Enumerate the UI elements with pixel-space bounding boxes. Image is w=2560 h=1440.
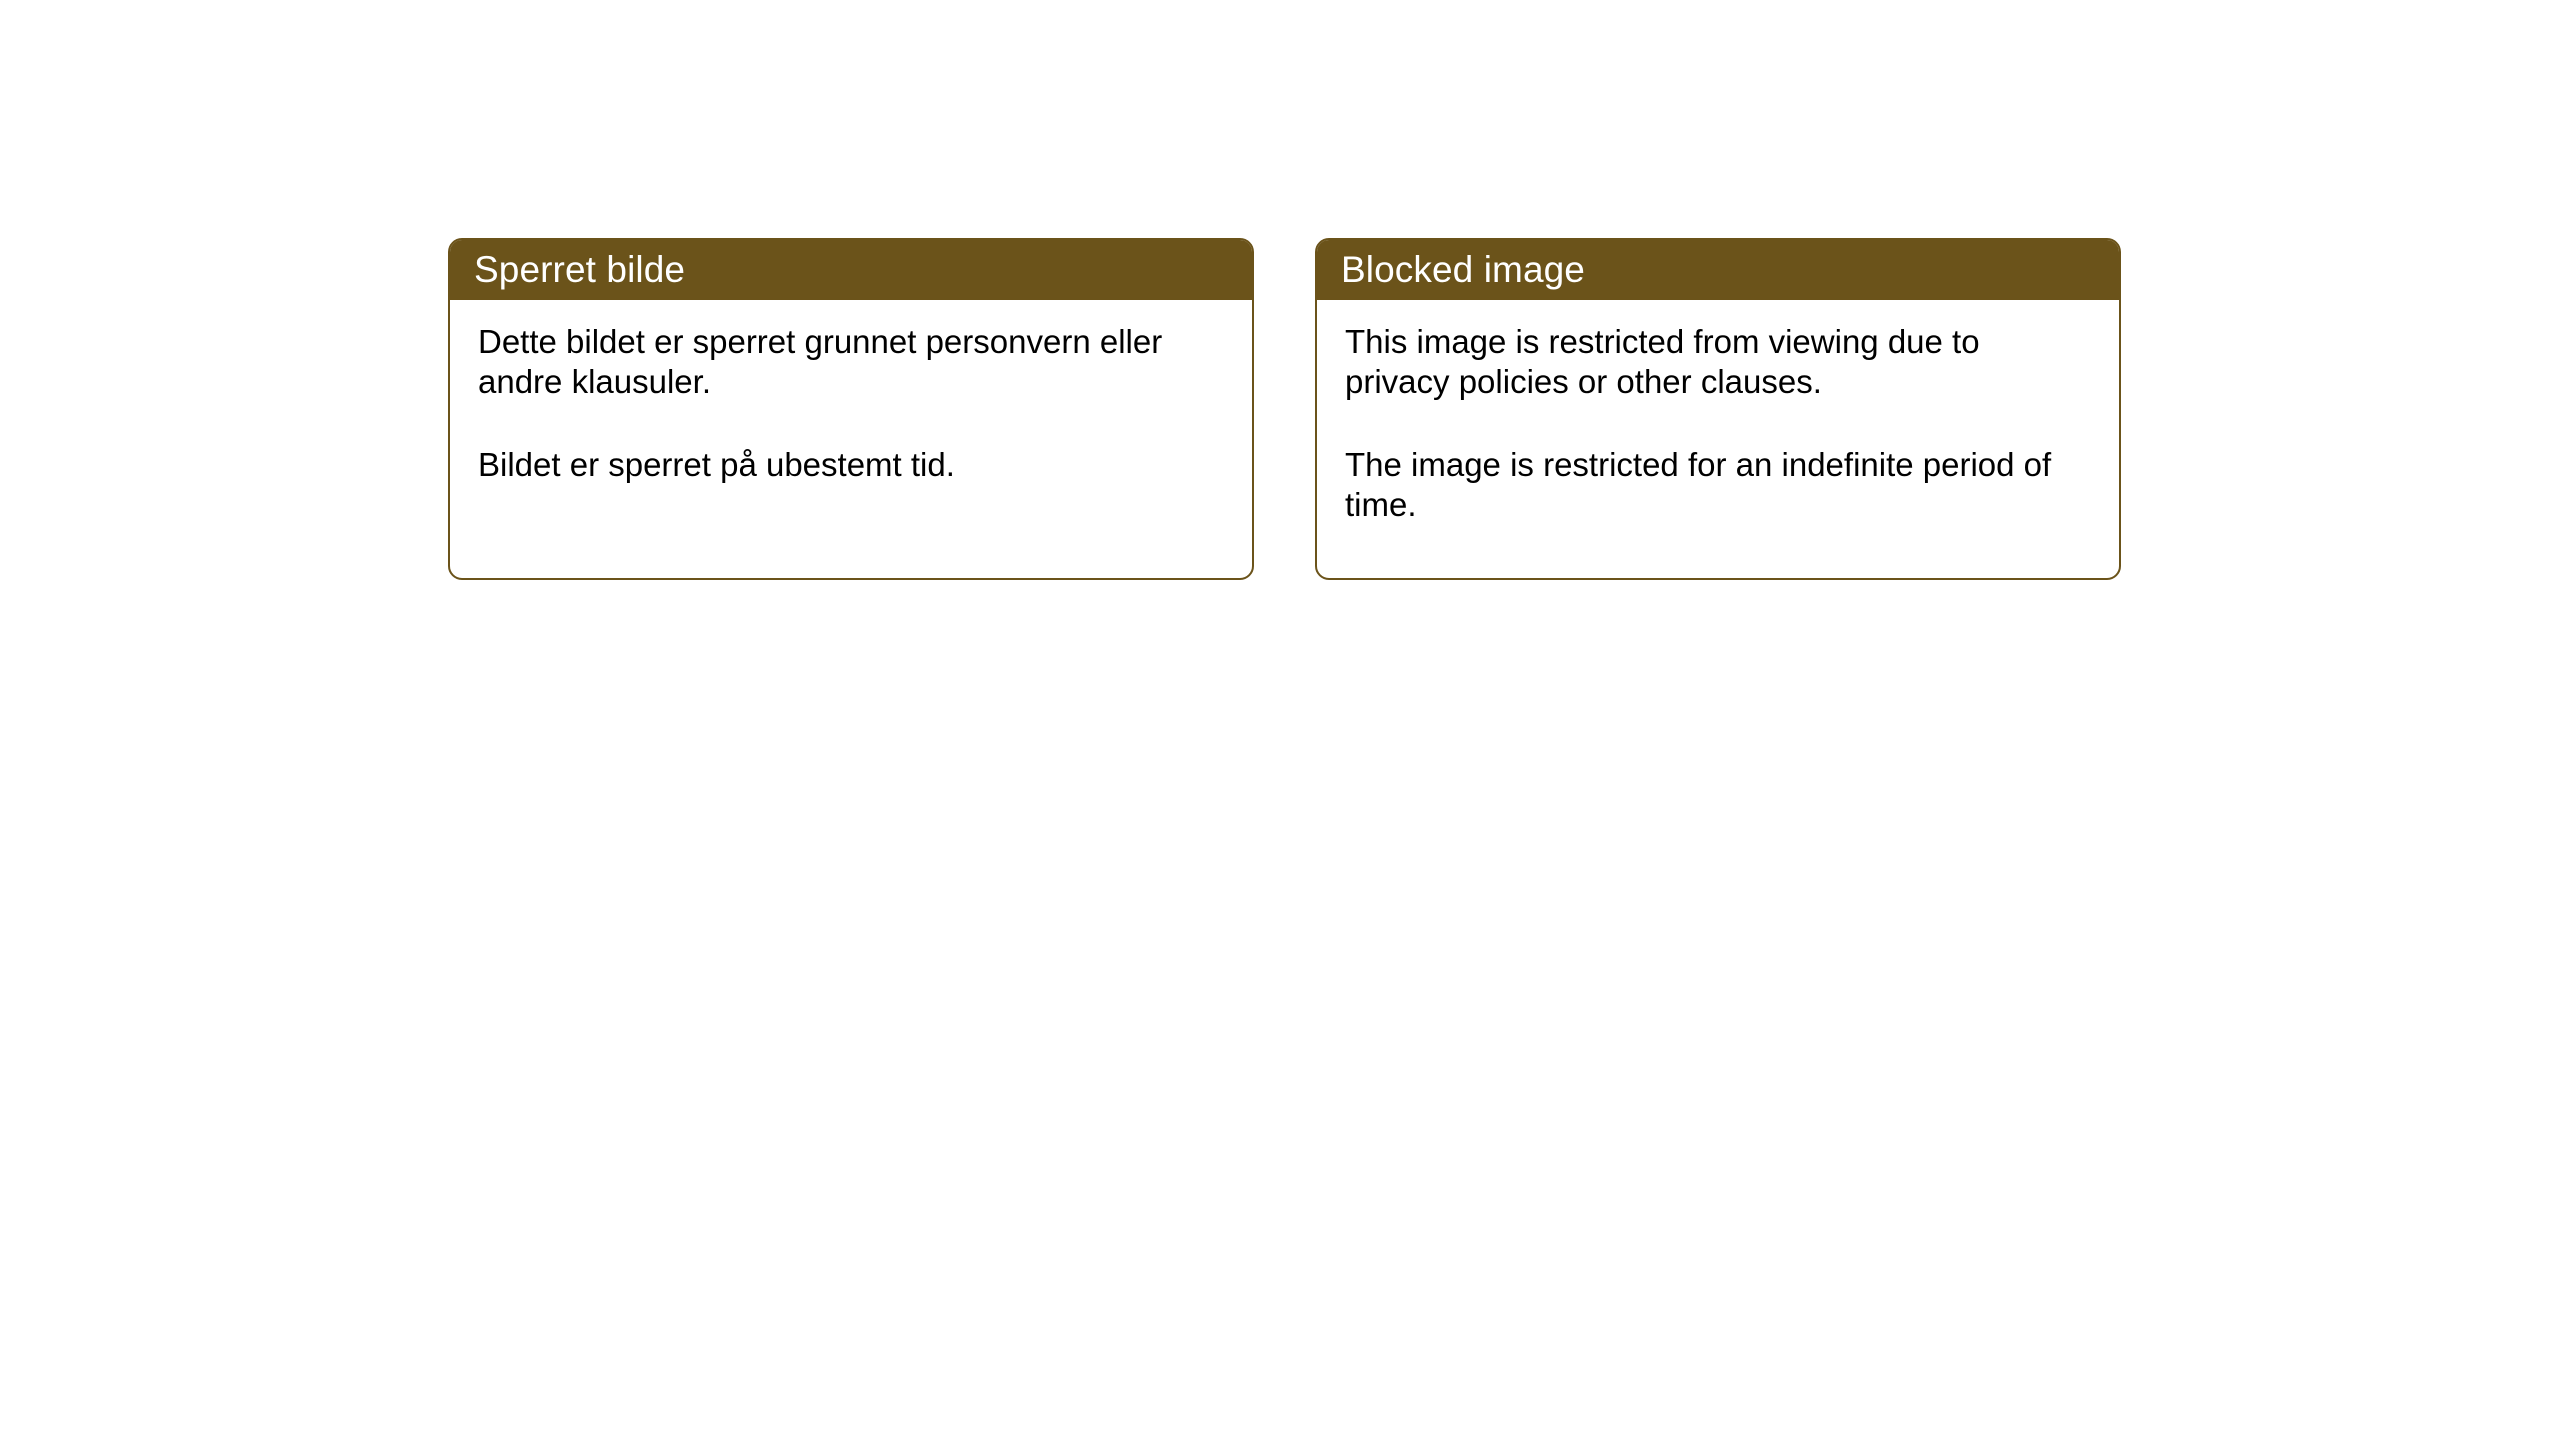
blocked-image-notice-card-norwegian: Sperret bilde Dette bildet er sperret gr… [448,238,1254,580]
card-title-norwegian: Sperret bilde [474,251,685,288]
blocked-image-notice-card-english: Blocked image This image is restricted f… [1315,238,2121,580]
card-paragraph-secondary-english: The image is restricted for an indefinit… [1345,445,2085,526]
card-paragraph-primary-english: This image is restricted from viewing du… [1345,322,2085,403]
card-header-english: Blocked image [1315,238,2121,300]
card-paragraph-secondary-norwegian: Bildet er sperret på ubestemt tid. [478,445,1218,485]
page-canvas: Sperret bilde Dette bildet er sperret gr… [0,0,2560,1440]
card-paragraph-primary-norwegian: Dette bildet er sperret grunnet personve… [478,322,1218,403]
card-header-norwegian: Sperret bilde [448,238,1254,300]
card-body-english: This image is restricted from viewing du… [1317,300,2119,525]
card-title-english: Blocked image [1341,251,1585,288]
card-body-norwegian: Dette bildet er sperret grunnet personve… [450,300,1252,485]
